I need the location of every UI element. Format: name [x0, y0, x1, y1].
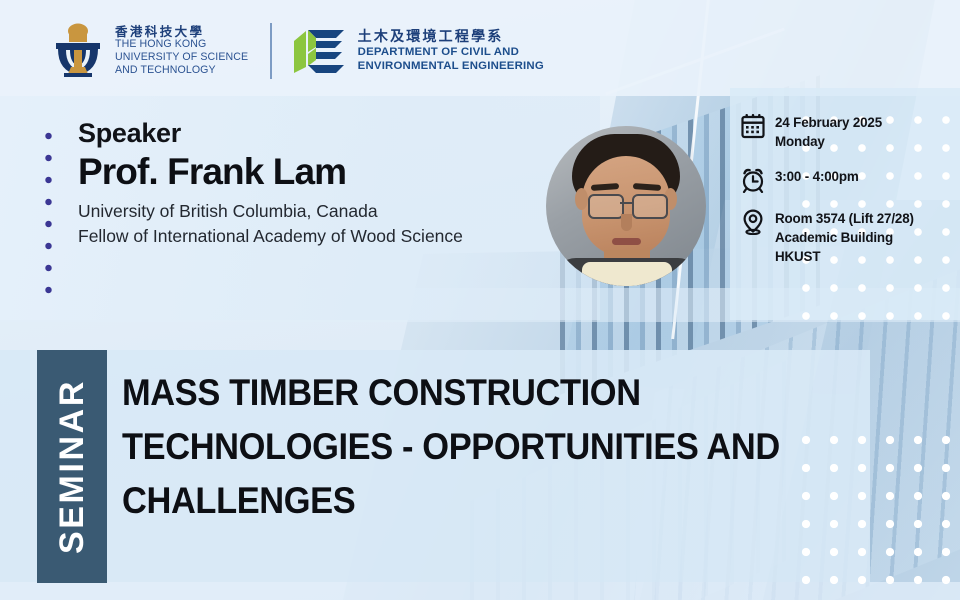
speaker-name: Prof. Frank Lam: [78, 153, 548, 192]
cee-name-chinese: 土木及環境工程學系: [358, 29, 544, 45]
event-venue-text: Room 3574 (Lift 27/28) Academic Building…: [775, 208, 914, 266]
hkust-name-chinese: 香港科技大學: [115, 25, 248, 39]
event-venue-line2: Academic Building: [775, 228, 914, 247]
event-time-line1: 3:00 - 4:00pm: [775, 167, 859, 186]
alarm-clock-icon: [740, 167, 766, 193]
seminar-badge: SEMINAR: [37, 350, 107, 583]
hkust-chalice-logo-icon: [52, 23, 104, 79]
event-venue-row: Room 3574 (Lift 27/28) Academic Building…: [740, 208, 950, 266]
portrait-mouth: [612, 238, 641, 245]
event-date-row: 24 February 2025 Monday: [740, 112, 950, 151]
portrait-glasses-bridge: [620, 202, 632, 204]
event-details: 24 February 2025 Monday 3:00 - 4:00pm: [740, 112, 950, 281]
portrait-ear-left: [575, 188, 588, 210]
seminar-badge-label: SEMINAR: [53, 379, 92, 554]
portrait-glasses-left: [588, 194, 624, 219]
hkust-name-en-3: AND TECHNOLOGY: [115, 64, 248, 77]
speaker-portrait: [546, 126, 706, 286]
event-time-row: 3:00 - 4:00pm: [740, 166, 950, 193]
speaker-affiliation-2: Fellow of International Academy of Wood …: [78, 224, 548, 249]
speaker-section: Speaker Prof. Frank Lam University of Br…: [78, 118, 548, 249]
event-venue-line1: Room 3574 (Lift 27/28): [775, 209, 914, 228]
hkust-logo-text: 香港科技大學 THE HONG KONG UNIVERSITY OF SCIEN…: [115, 25, 248, 77]
speaker-affiliation-1: University of British Columbia, Canada: [78, 199, 548, 224]
dot-pattern-left: [36, 122, 64, 298]
logo-divider: [270, 23, 272, 79]
calendar-icon: [740, 113, 766, 139]
event-time-text: 3:00 - 4:00pm: [775, 166, 859, 186]
event-date-text: 24 February 2025 Monday: [775, 112, 882, 151]
cee-name-en-1: DEPARTMENT OF CIVIL AND: [358, 45, 544, 59]
logo-header: 香港科技大學 THE HONG KONG UNIVERSITY OF SCIEN…: [52, 22, 544, 80]
portrait-glasses-right: [632, 194, 668, 219]
hkust-name-en-1: THE HONG KONG: [115, 38, 248, 51]
speaker-label: Speaker: [78, 118, 548, 149]
event-venue-line3: HKUST: [775, 247, 914, 266]
event-date-line1: 24 February 2025: [775, 113, 882, 132]
hkust-name-en-2: UNIVERSITY OF SCIENCE: [115, 51, 248, 64]
seminar-title-line-3: CHALLENGES: [122, 474, 773, 528]
event-date-line2: Monday: [775, 132, 882, 151]
cee-name-en-2: ENVIRONMENTAL ENGINEERING: [358, 59, 544, 73]
cee-logo-text: 土木及環境工程學系 DEPARTMENT OF CIVIL AND ENVIRO…: [358, 29, 544, 74]
cee-logo[interactable]: 土木及環境工程學系 DEPARTMENT OF CIVIL AND ENVIRO…: [292, 27, 544, 75]
location-pin-icon: [740, 209, 766, 235]
portrait-nose: [621, 214, 632, 231]
seminar-title-line-2: TECHNOLOGIES - OPPORTUNITIES AND: [122, 420, 773, 474]
hkust-logo[interactable]: 香港科技大學 THE HONG KONG UNIVERSITY OF SCIEN…: [52, 23, 248, 79]
seminar-title: MASS TIMBER CONSTRUCTION TECHNOLOGIES - …: [122, 366, 822, 528]
seminar-poster: 香港科技大學 THE HONG KONG UNIVERSITY OF SCIEN…: [0, 0, 960, 600]
cee-department-logo-icon: [292, 27, 346, 75]
seminar-title-line-1: MASS TIMBER CONSTRUCTION: [122, 366, 773, 420]
